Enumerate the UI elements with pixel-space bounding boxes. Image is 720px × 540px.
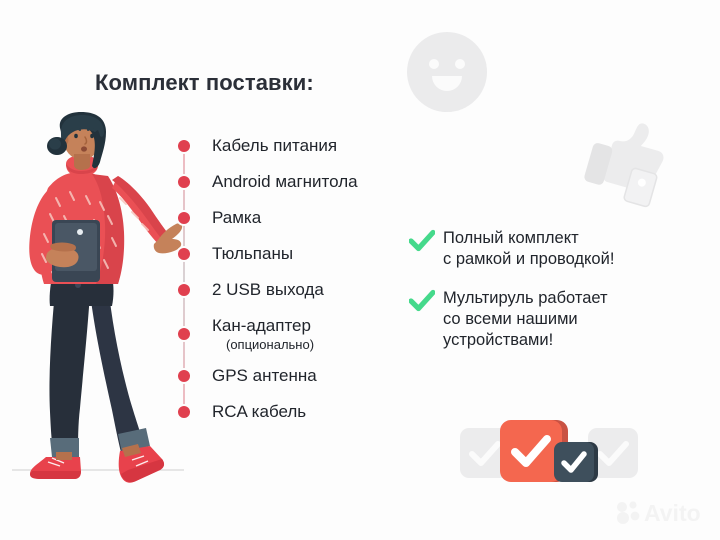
check-mark-icon <box>500 420 562 482</box>
checkbox-card-red <box>500 420 562 482</box>
list-item-label: GPS антенна <box>212 366 317 385</box>
list-item-label: Android магнитола <box>212 172 358 191</box>
check-mark-icon <box>409 229 435 253</box>
bullet-dot-icon <box>178 328 190 340</box>
highlight-text: Полный комплект с рамкой и проводкой! <box>443 228 614 270</box>
smiley-face-icon <box>406 31 488 113</box>
checkbox-card-navy <box>554 442 594 482</box>
check-mark-icon <box>554 442 594 482</box>
list-item-main-label: Кан-адаптер <box>212 316 311 335</box>
check-mark-icon <box>409 289 435 313</box>
highlight-row: Полный комплект с рамкой и проводкой! <box>409 228 694 270</box>
list-item: RCA кабель <box>178 402 408 421</box>
list-item-sub-label: (опционально) <box>226 336 314 353</box>
list-item-label: RCA кабель <box>212 402 306 421</box>
highlight-text: Мультируль работает со всеми нашими устр… <box>443 288 608 351</box>
woman-illustration <box>8 112 188 502</box>
list-item: GPS антенна <box>178 366 408 385</box>
bullet-dot-icon <box>178 176 190 188</box>
bullet-dot-icon <box>178 370 190 382</box>
thumbs-up-icon <box>578 112 678 212</box>
list-item: 2 USB выхода <box>178 280 408 299</box>
checkbox-cards-decoration <box>460 406 640 492</box>
highlight-row: Мультируль работает со всеми нашими устр… <box>409 288 694 351</box>
list-item-label: 2 USB выхода <box>212 280 324 299</box>
bullet-dot-icon <box>178 248 190 260</box>
highlight-block-group: Полный комплект с рамкой и проводкой! Му… <box>409 228 694 369</box>
promo-image-canvas: Комплект поставки: Кабель питания Androi… <box>0 0 720 540</box>
page-title: Комплект поставки: <box>95 70 314 96</box>
bullet-dot-icon <box>178 140 190 152</box>
list-item: Кабель питания <box>178 136 408 155</box>
list-item: Рамка <box>178 208 408 227</box>
avito-watermark: Avito <box>614 499 706 530</box>
list-item: Кан-адаптер (опционально) <box>178 316 408 353</box>
bullet-dot-icon <box>178 406 190 418</box>
list-item: Тюльпаны <box>178 244 408 263</box>
list-item-label: Тюльпаны <box>212 244 293 263</box>
bullet-dot-icon <box>178 212 190 224</box>
package-contents-list: Кабель питания Android магнитола Рамка Т… <box>178 136 408 421</box>
list-item-label: Рамка <box>212 208 261 227</box>
bullet-dot-icon <box>178 284 190 296</box>
list-item: Android магнитола <box>178 172 408 191</box>
avito-watermark-label: Avito <box>644 500 701 525</box>
list-item-label: Кабель питания <box>212 136 337 155</box>
list-item-label: Кан-адаптер (опционально) <box>212 316 314 353</box>
